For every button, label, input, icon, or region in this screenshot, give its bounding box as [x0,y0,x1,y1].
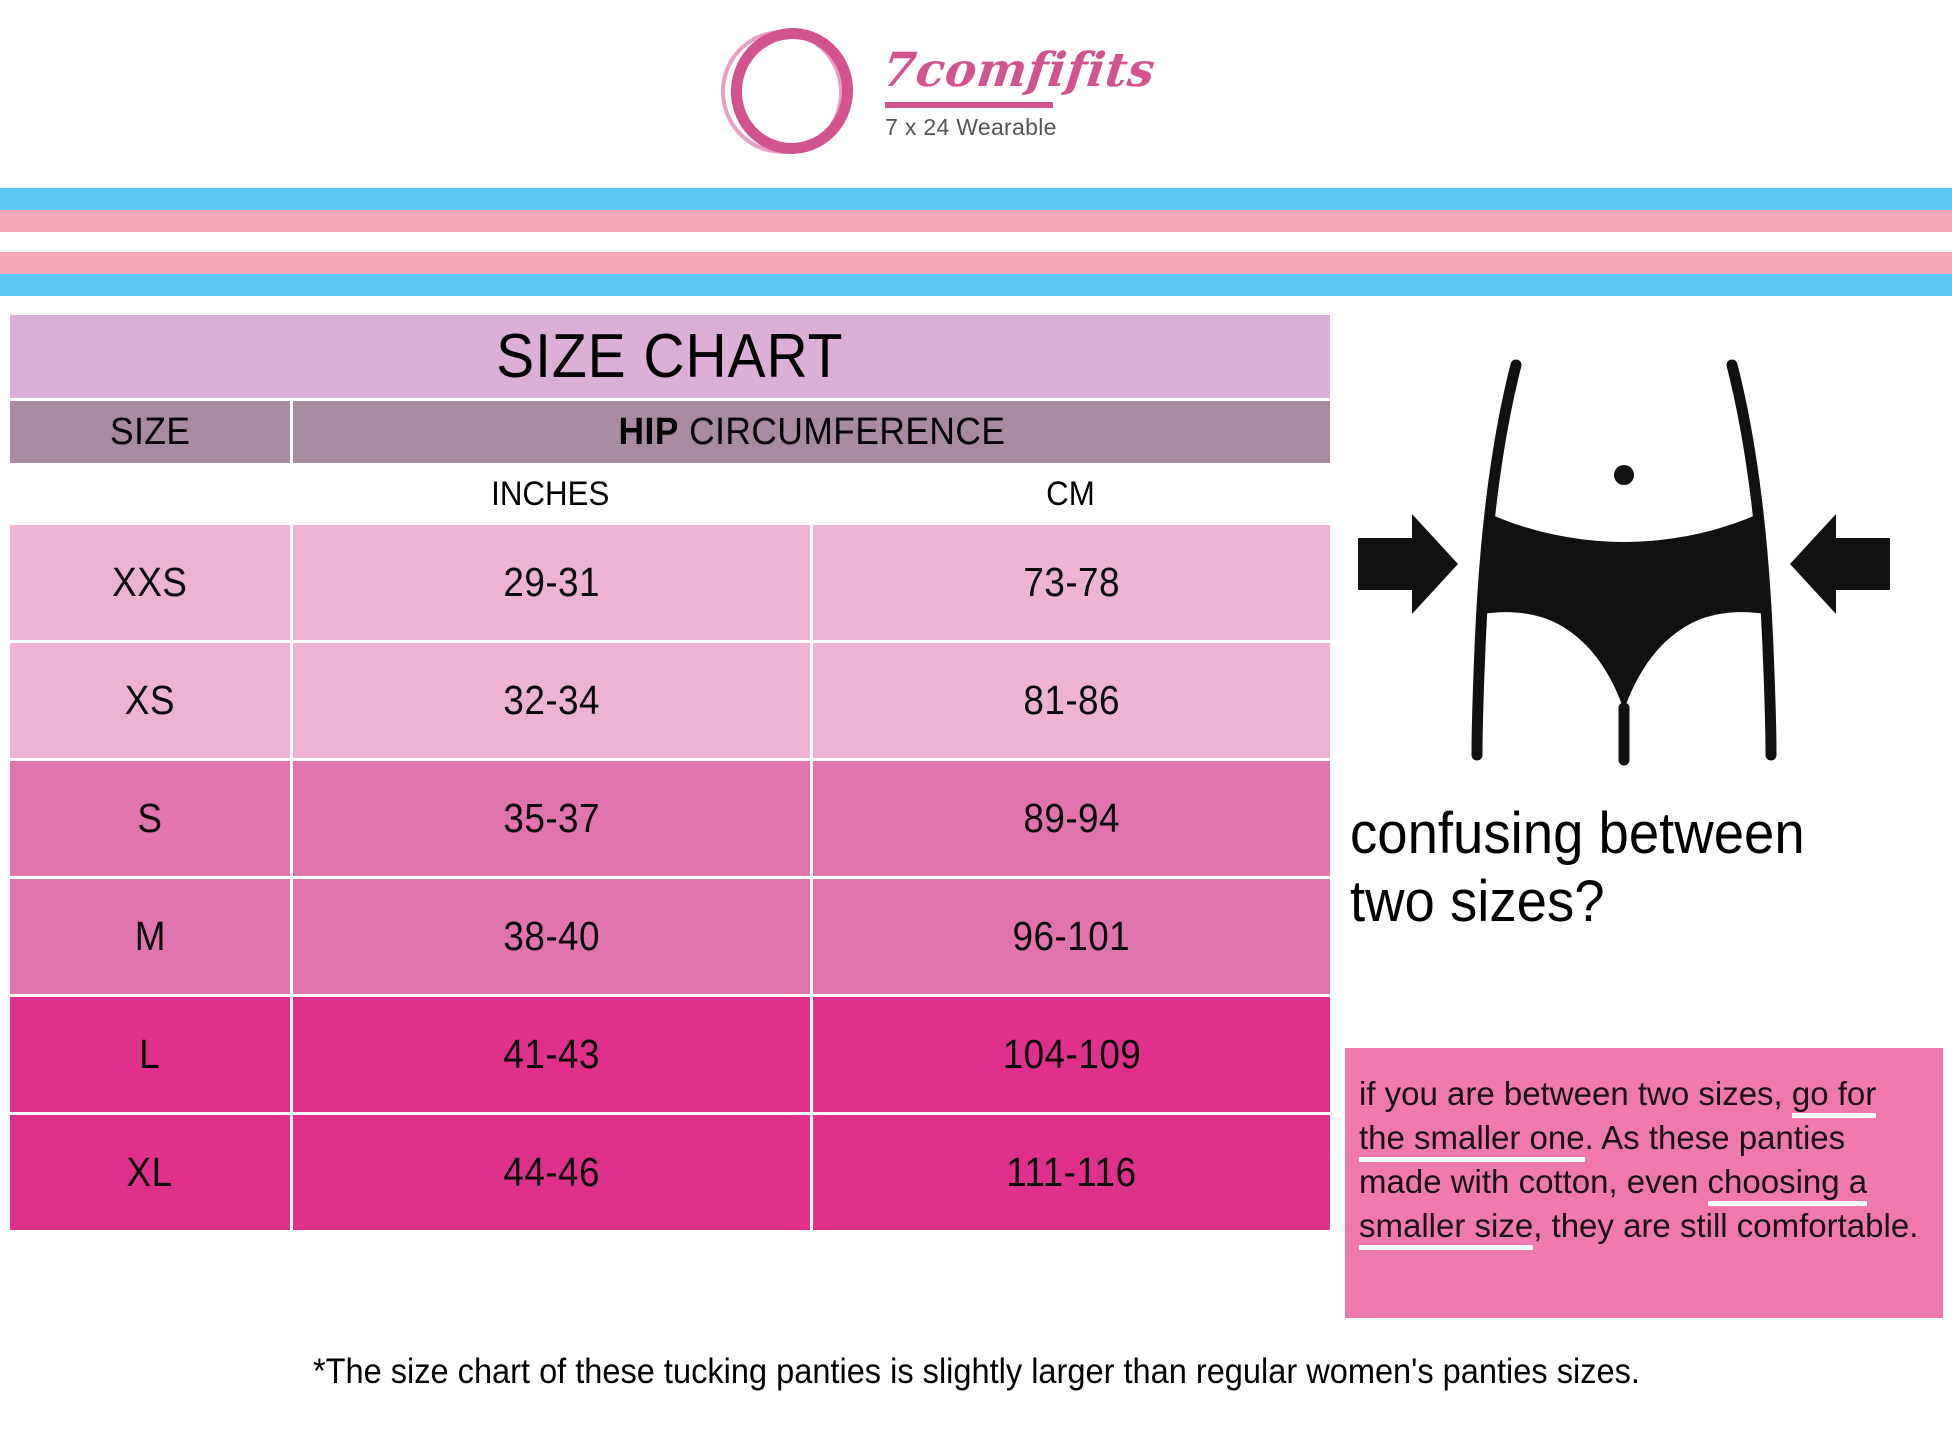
row-cell-size: L [10,997,290,1112]
unit-header-inches: INCHES [290,463,810,525]
row-cell-cm-label: 73-78 [1023,559,1120,606]
row-cell-cm: 96-101 [813,879,1330,994]
table-row: S35-3789-94 [10,761,1330,876]
row-cell-size-label: XL [127,1149,173,1196]
circle-brushstroke-icon [721,26,857,162]
table-row: M38-4096-101 [10,879,1330,994]
page-title: SIZE CHART [496,321,843,392]
brand-header: 7comfifits 7 x 24 Wearable [0,0,1952,188]
row-cell-cm-label: 104-109 [1002,1031,1141,1078]
brand-tagline: 7 x 24 Wearable [883,114,1155,141]
advice-callout-box: if you are between two sizes, go for the… [1345,1048,1943,1318]
stripe-pink-top [0,210,1952,232]
row-cell-inches: 38-40 [293,879,810,994]
row-cell-inches-label: 35-37 [503,795,600,842]
row-cell-inches: 44-46 [293,1115,810,1230]
unit-header-cm: CM [810,463,1330,525]
cta-heading: confusing between two sizes? [1350,800,1950,937]
row-cell-cm: 104-109 [813,997,1330,1112]
unit-header-row: INCHES CM [10,463,1330,525]
row-cell-inches-label: 38-40 [503,913,600,960]
right-panel: confusing between two sizes? if you are … [1340,300,1952,1360]
row-cell-cm-label: 81-86 [1023,677,1120,724]
column-header-size-label: SIZE [110,411,190,454]
stripe-pink-bottom [0,252,1952,274]
chart-title-bar: SIZE CHART [10,315,1330,398]
row-cell-size-label: XXS [112,559,187,606]
row-cell-size: XL [10,1115,290,1230]
table-row: XS32-3481-86 [10,643,1330,758]
row-cell-cm: 73-78 [813,525,1330,640]
row-cell-size-label: XS [125,677,175,724]
row-cell-size-label: L [140,1031,161,1078]
brand-name: 7comfifits [880,47,1158,96]
transgender-pride-stripes [0,188,1952,296]
stripe-blue-bottom [0,274,1952,296]
row-cell-inches: 35-37 [293,761,810,876]
row-cell-cm-label: 111-116 [1006,1149,1136,1196]
row-cell-cm-label: 89-94 [1023,795,1120,842]
unit-header-cm-label: CM [1046,475,1095,514]
row-cell-cm: 81-86 [813,643,1330,758]
row-cell-size: M [10,879,290,994]
row-cell-size: S [10,761,290,876]
row-cell-cm: 111-116 [813,1115,1330,1230]
table-body: XXS29-3173-78XS32-3481-86S35-3789-94M38-… [10,525,1330,1230]
hips-with-panties-inward-arrows-icon [1340,318,1952,788]
column-header-size: SIZE [10,401,290,463]
row-cell-size: XXS [10,525,290,640]
column-header-row: SIZE HIP CIRCUMFERENCE [10,401,1330,463]
table-row: XL44-46111-116 [10,1115,1330,1230]
advice-part-3: , they are still comfortable. [1533,1207,1918,1244]
brand-divider [885,102,1053,108]
column-header-hip-bold: HIP [618,411,678,453]
row-cell-inches: 41-43 [293,997,810,1112]
unit-header-inches-label: INCHES [491,475,609,514]
row-cell-inches-label: 41-43 [503,1031,600,1078]
cta-heading-line2: two sizes? [1350,868,1914,936]
column-header-hip-circumference: HIP CIRCUMFERENCE [293,401,1330,463]
row-cell-inches-label: 44-46 [503,1149,600,1196]
row-cell-size-label: M [134,913,165,960]
table-row: XXS29-3173-78 [10,525,1330,640]
advice-text: if you are between two sizes, go for the… [1359,1072,1929,1248]
row-cell-inches-label: 32-34 [503,677,600,724]
table-row: L41-43104-109 [10,997,1330,1112]
unit-header-spacer [10,463,290,525]
stripe-blue-top [0,188,1952,210]
stripe-white-mid [0,232,1952,252]
cta-heading-line1: confusing between [1350,800,1914,868]
row-cell-inches: 32-34 [293,643,810,758]
column-header-circumference: CIRCUMFERENCE [678,411,1005,453]
row-cell-cm-label: 96-101 [1013,913,1131,960]
advice-part-1: if you are between two sizes, [1359,1075,1792,1112]
size-chart-table: SIZE CHART SIZE HIP CIRCUMFERENCE INCHES… [10,315,1330,1233]
row-cell-cm: 89-94 [813,761,1330,876]
row-cell-inches: 29-31 [293,525,810,640]
row-cell-size-label: S [137,795,162,842]
row-cell-size: XS [10,643,290,758]
row-cell-inches-label: 29-31 [503,559,600,606]
